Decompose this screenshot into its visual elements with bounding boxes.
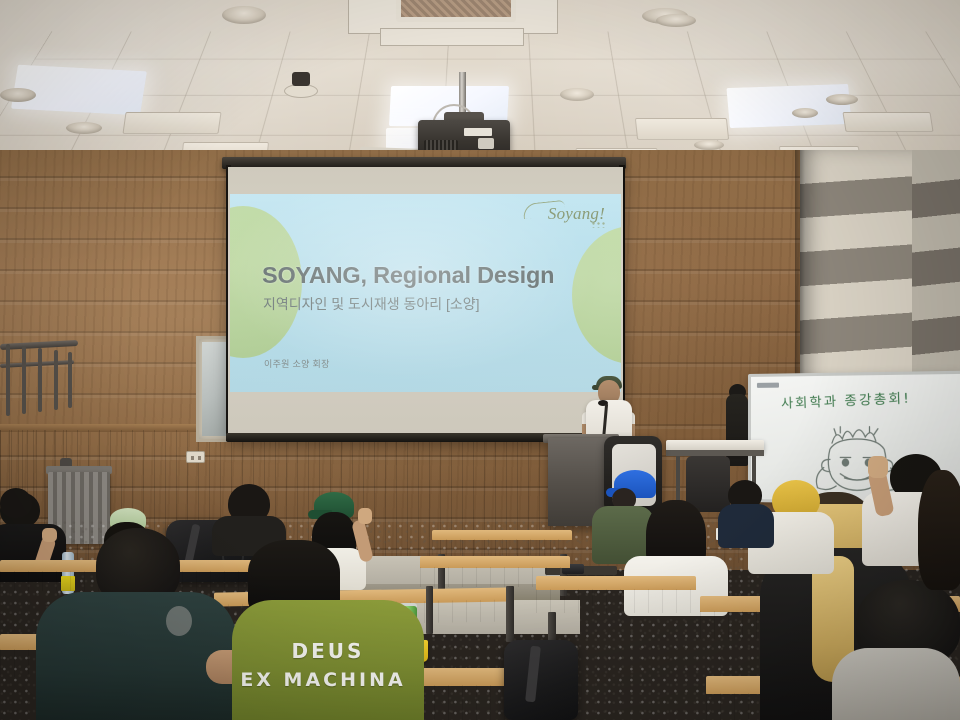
projector-lens — [478, 138, 494, 149]
recessed-downlight — [826, 94, 858, 105]
recessed-downlight — [694, 140, 724, 150]
lecture-hall-scene: Soyang! SOYANG, Regional Design 지역디자인 및 … — [0, 0, 960, 720]
whiteboard-text: 사회학과 종강총회! — [781, 387, 911, 412]
torso-teal-polo — [36, 592, 236, 720]
projection-screen: Soyang! SOYANG, Regional Design 지역디자인 및 … — [228, 167, 623, 439]
desk-surface — [536, 576, 696, 590]
recessed-downlight — [792, 108, 818, 118]
hand — [358, 508, 372, 524]
railing-post — [68, 352, 72, 408]
recessed-downlight — [656, 14, 696, 27]
shirt-text-line1: DEUS — [236, 638, 420, 665]
wall-outlet-icon[interactable] — [186, 451, 205, 463]
head — [0, 488, 32, 518]
slide-decoration-circle-right — [572, 226, 621, 364]
ceiling — [0, 0, 960, 168]
slide-logo-dots-icon — [591, 221, 607, 228]
slide-subtitle: 지역디자인 및 도시재생 동아리 [소양] — [263, 294, 480, 314]
ceiling-panel-light — [726, 84, 851, 128]
recessed-downlight — [560, 88, 594, 101]
ceiling-tile — [635, 118, 729, 140]
recessed-downlight — [66, 122, 102, 134]
ceiling-tile — [122, 112, 221, 134]
torso-gray-hoodie — [832, 648, 960, 720]
eyeglasses-icon — [166, 606, 192, 636]
ceiling-speaker-icon — [292, 72, 310, 86]
railing-post — [54, 350, 58, 410]
chair-back — [686, 456, 730, 512]
desk-front-panel — [536, 589, 696, 613]
slide-presenter-name: 이주원 소양 회장 — [264, 357, 330, 370]
railing-post — [6, 344, 10, 416]
ceiling-speaker-plate — [284, 84, 318, 98]
railing-post — [38, 348, 42, 412]
projector-label — [464, 128, 492, 136]
hand-clapping — [868, 456, 888, 478]
desk-front-panel — [432, 539, 572, 555]
desk-leg — [506, 586, 514, 642]
presentation-slide: Soyang! SOYANG, Regional Design 지역디자인 및 … — [230, 194, 621, 392]
ceiling-vent-frame — [380, 28, 524, 46]
recessed-downlight — [0, 88, 36, 102]
hand — [42, 528, 57, 542]
torso — [718, 504, 774, 548]
air-vent-icon — [396, 0, 516, 22]
recessed-downlight — [222, 6, 266, 24]
hair-long — [918, 470, 960, 590]
ceiling-tile — [842, 112, 933, 132]
railing-post — [22, 346, 26, 414]
desk-leg — [426, 586, 433, 634]
whiteboard-clip — [757, 383, 779, 388]
black-backpack[interactable] — [504, 640, 578, 720]
slide-title: SOYANG, Regional Design — [262, 262, 554, 289]
shirt-text-line2: EX MACHINA — [228, 668, 418, 694]
